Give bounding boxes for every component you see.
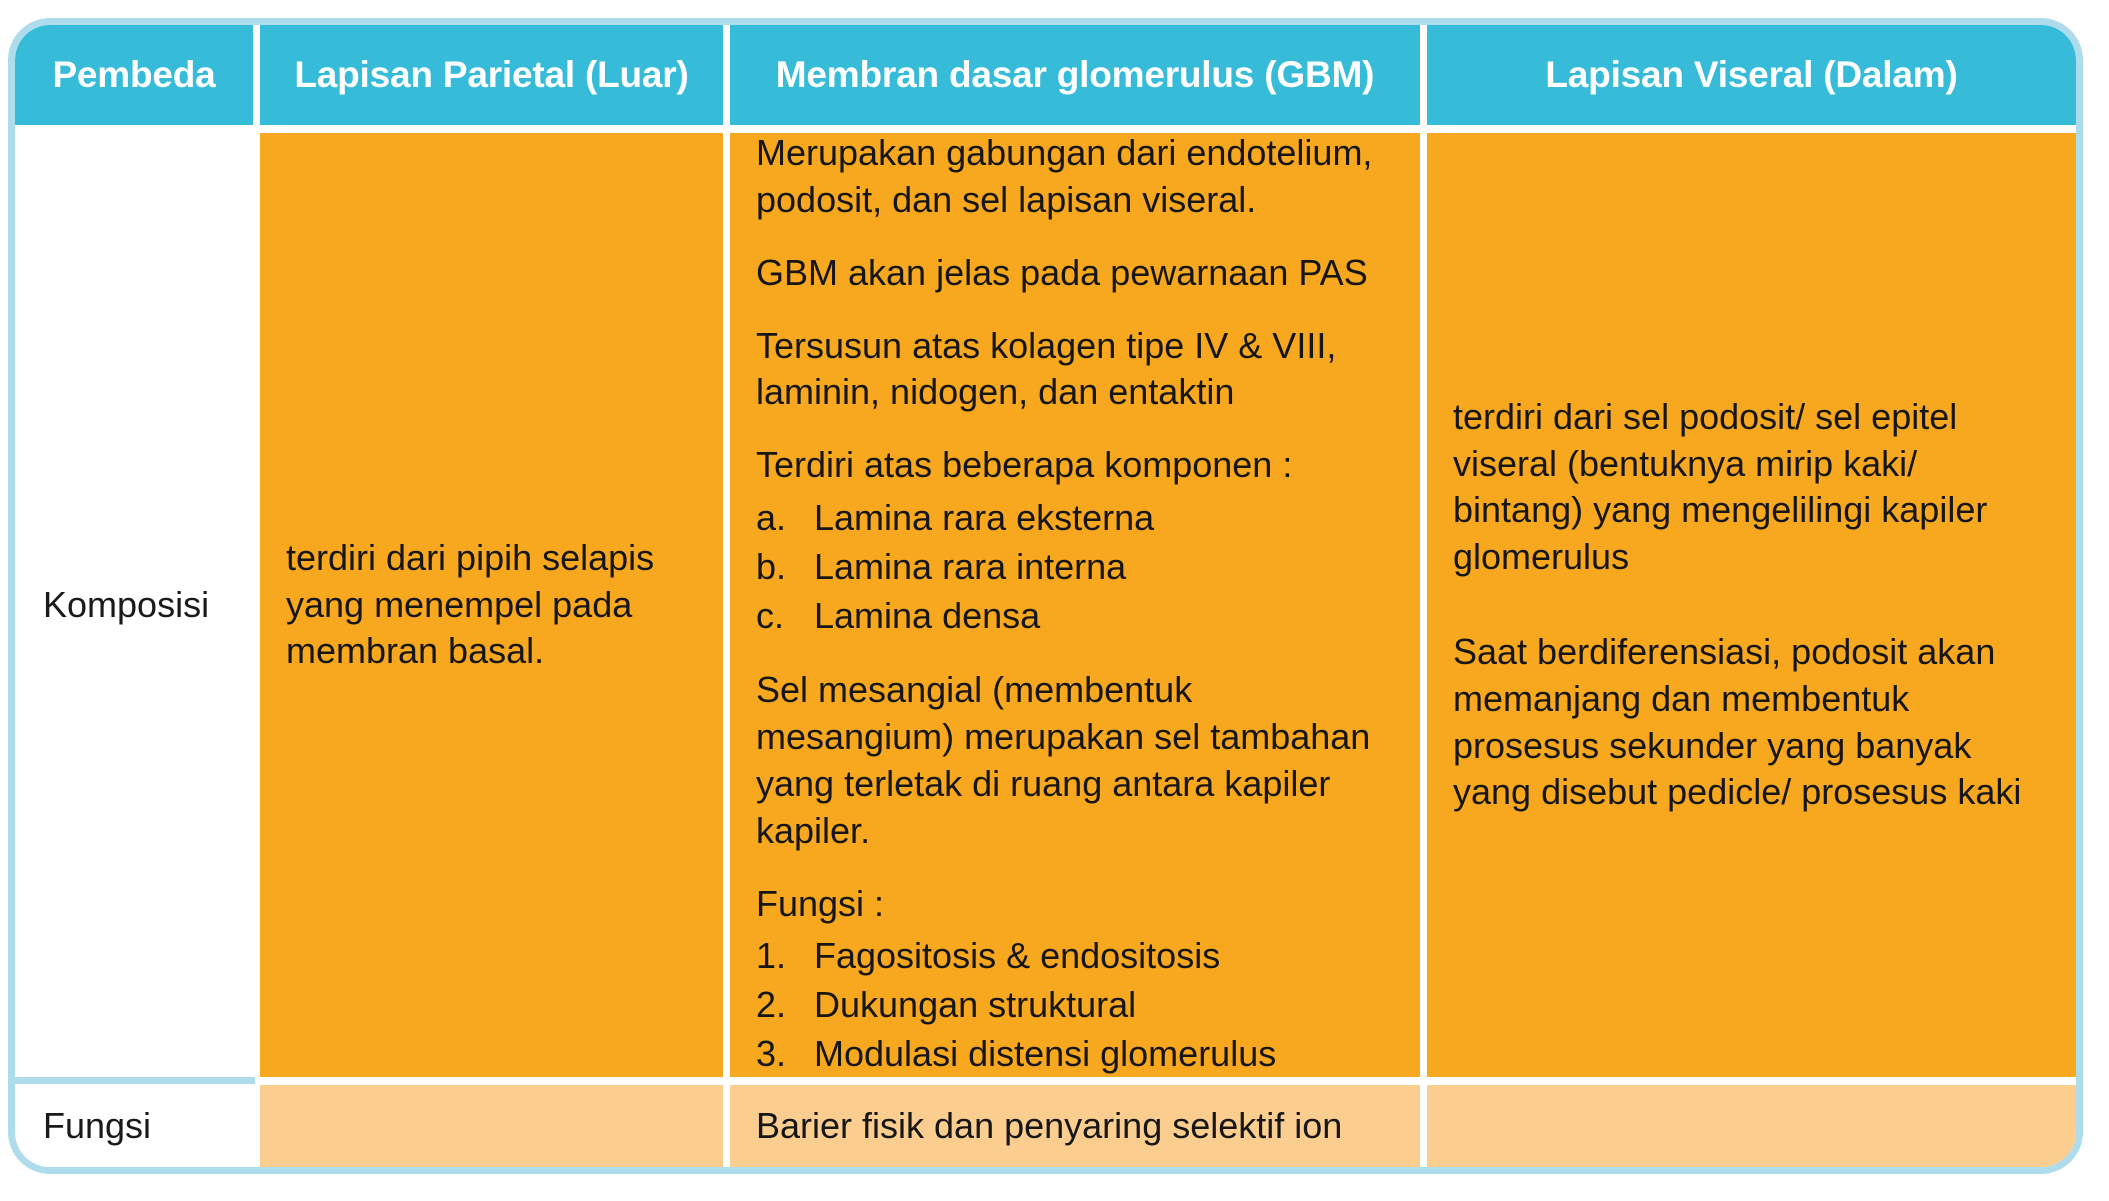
list-item: 1. Fagositosis & endositosis — [756, 933, 1394, 980]
row-label-fungsi-text: Fungsi — [43, 1105, 151, 1147]
row-label-komposisi: Komposisi — [15, 125, 253, 1085]
row-label-fungsi: Fungsi — [15, 1085, 253, 1167]
column-header-pembeda: Pembeda — [15, 25, 253, 125]
gbm-paragraph-5: Sel mesangial (membentuk mesangium) meru… — [756, 667, 1394, 854]
cell-fungsi-gbm-text: Barier fisik dan penyaring selektif ion — [756, 1103, 1394, 1150]
list-marker: 2. — [756, 982, 814, 1029]
comparison-table: Pembeda Lapisan Parietal (Luar) Membran … — [8, 18, 2083, 1174]
divider-vertical-1 — [253, 125, 260, 1167]
gbm-komponen-heading: Terdiri atas beberapa komponen : — [756, 442, 1394, 489]
divider-horizontal-header — [253, 125, 2076, 133]
divider-horizontal-row-label — [15, 1077, 255, 1084]
list-marker: a. — [756, 495, 814, 542]
column-header-pembeda-label: Pembeda — [52, 54, 215, 96]
gbm-komponen-list: a. Lamina rara eksterna b. Lamina rara i… — [756, 495, 1394, 641]
list-item: c. Lamina densa — [756, 593, 1394, 640]
column-header-gbm: Membran dasar glomerulus (GBM) — [730, 25, 1420, 125]
cell-komposisi-gbm: Merupakan gabungan dari endotelium, podo… — [730, 125, 1420, 1085]
list-text: Lamina densa — [814, 593, 1040, 640]
gbm-paragraph-1: Merupakan gabungan dari endotelium, podo… — [756, 130, 1394, 224]
cell-fungsi-gbm: Barier fisik dan penyaring selektif ion — [730, 1085, 1420, 1167]
gbm-fungsi-list: 1. Fagositosis & endositosis 2. Dukungan… — [756, 933, 1394, 1079]
list-item: 3. Modulasi distensi glomerulus — [756, 1031, 1394, 1078]
list-marker: 1. — [756, 933, 814, 980]
gbm-paragraph-2: GBM akan jelas pada pewarnaan PAS — [756, 250, 1394, 297]
list-text: Lamina rara interna — [814, 544, 1126, 591]
divider-horizontal-row — [253, 1077, 2076, 1085]
divider-vertical-header-1 — [253, 25, 260, 125]
column-header-parietal-label: Lapisan Parietal (Luar) — [294, 54, 688, 96]
gbm-paragraph-3: Tersusun atas kolagen tipe IV & VIII, la… — [756, 323, 1394, 417]
viseral-paragraph-1: terdiri dari sel podosit/ sel epitel vis… — [1453, 394, 2050, 581]
row-label-komposisi-text: Komposisi — [43, 584, 209, 626]
list-marker: b. — [756, 544, 814, 591]
column-header-parietal: Lapisan Parietal (Luar) — [260, 25, 723, 125]
gbm-fungsi-heading: Fungsi : — [756, 881, 1394, 928]
list-text: Modulasi distensi glomerulus — [814, 1031, 1276, 1078]
cell-komposisi-viseral: terdiri dari sel podosit/ sel epitel vis… — [1427, 125, 2076, 1085]
list-item: b. Lamina rara interna — [756, 544, 1394, 591]
cell-komposisi-parietal: terdiri dari pipih selapis yang menempel… — [260, 125, 723, 1085]
divider-vertical-2 — [723, 25, 730, 1167]
viseral-paragraph-2: Saat berdiferensiasi, podosit akan meman… — [1453, 629, 2050, 816]
list-item: 2. Dukungan struktural — [756, 982, 1394, 1029]
column-header-gbm-label: Membran dasar glomerulus (GBM) — [776, 54, 1374, 96]
column-header-viseral-label: Lapisan Viseral (Dalam) — [1545, 54, 1957, 96]
list-item: a. Lamina rara eksterna — [756, 495, 1394, 542]
cell-komposisi-parietal-text: terdiri dari pipih selapis yang menempel… — [286, 535, 697, 675]
list-text: Fagositosis & endositosis — [814, 933, 1220, 980]
cell-fungsi-parietal — [260, 1085, 723, 1167]
list-marker: 3. — [756, 1031, 814, 1078]
column-header-viseral: Lapisan Viseral (Dalam) — [1427, 25, 2076, 125]
list-marker: c. — [756, 593, 814, 640]
list-text: Dukungan struktural — [814, 982, 1136, 1029]
list-text: Lamina rara eksterna — [814, 495, 1154, 542]
divider-vertical-3 — [1420, 25, 1427, 1167]
cell-fungsi-viseral — [1427, 1085, 2076, 1167]
